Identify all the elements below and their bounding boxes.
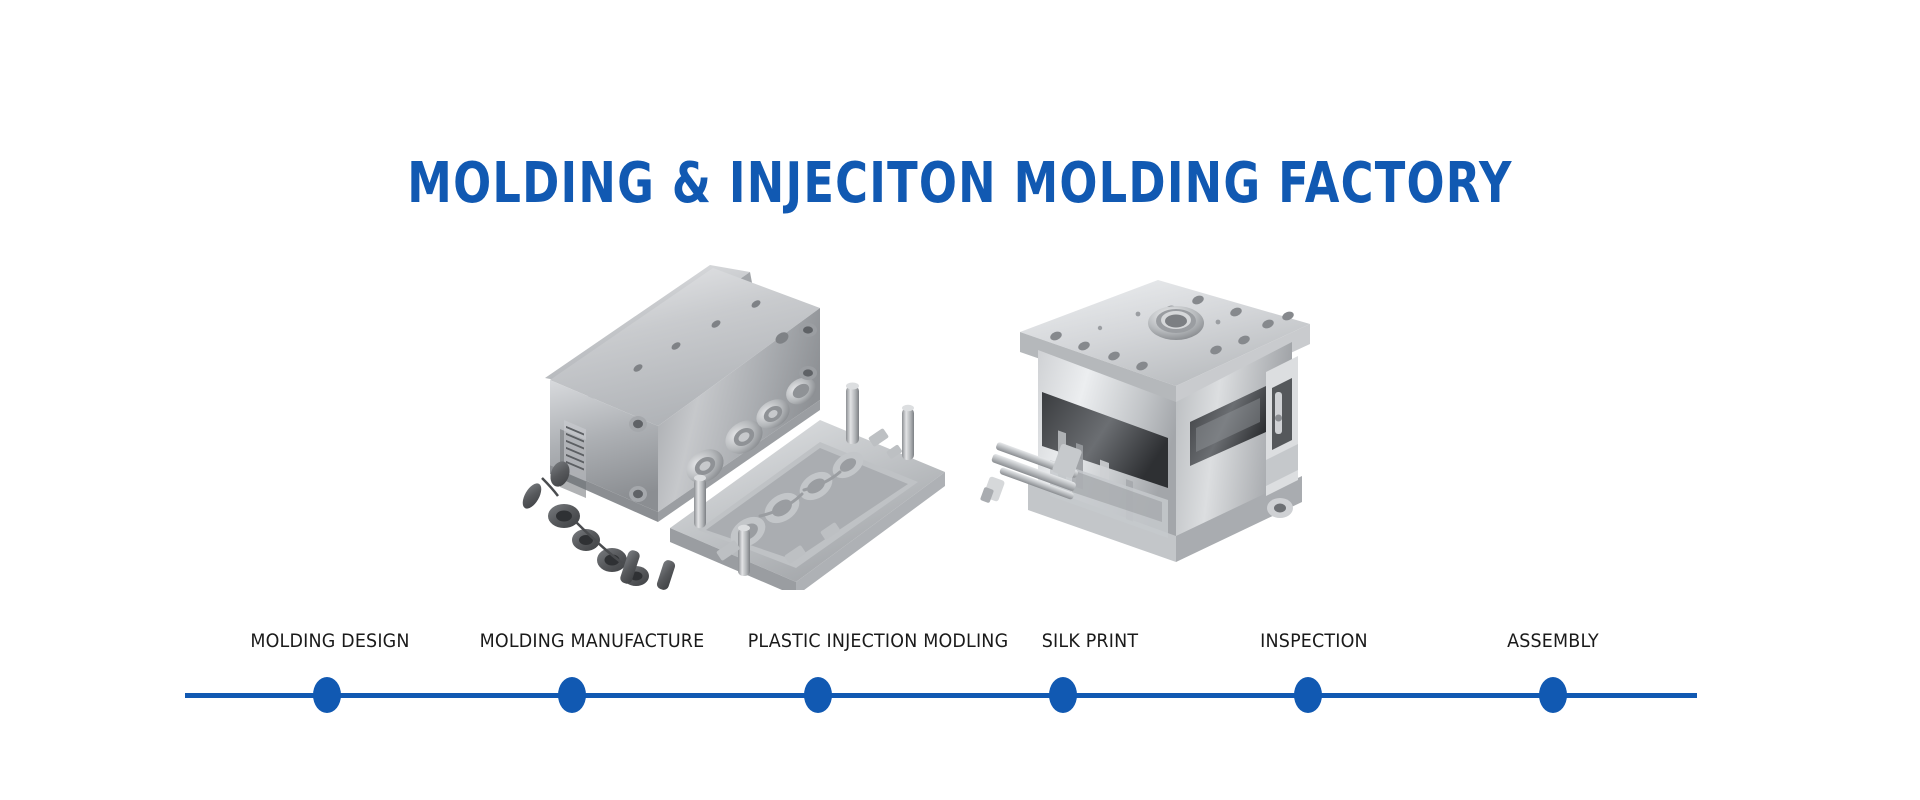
- process-step-label-inspection: INSPECTION: [1256, 630, 1373, 652]
- timeline-dot-molding-manufacture[interactable]: [558, 677, 586, 713]
- injection-mold-open-halves-image: [520, 260, 950, 590]
- process-step-label-plastic-injection-modling: PLASTIC INJECTION MODLING: [736, 630, 1019, 652]
- timeline-axis-line: [185, 693, 1697, 698]
- step-label-text: MOLDING MANUFACTURE: [480, 630, 705, 652]
- marketing-banner: MOLDING & INJECITON MOLDING FACTORY: [0, 0, 1920, 800]
- process-step-labels: MOLDING DESIGN MOLDING MANUFACTURE PLAST…: [0, 600, 1920, 660]
- process-step-label-assembly: ASSEMBLY: [1503, 630, 1603, 652]
- step-label-text: INSPECTION: [1260, 630, 1368, 652]
- process-step-label-molding-manufacture: MOLDING MANUFACTURE: [470, 630, 714, 652]
- step-label-text: SILK PRINT: [1042, 630, 1138, 652]
- page-title: MOLDING & INJECITON MOLDING FACTORY: [192, 155, 1728, 214]
- process-step-label-molding-design: MOLDING DESIGN: [243, 630, 416, 652]
- timeline-dot-assembly[interactable]: [1539, 677, 1567, 713]
- process-step-label-silk-print: SILK PRINT: [1038, 630, 1143, 652]
- timeline-dot-silk-print[interactable]: [1049, 677, 1077, 713]
- timeline-dot-plastic-injection-modling[interactable]: [804, 677, 832, 713]
- step-label-text: PLASTIC INJECTION MODLING: [748, 630, 1009, 652]
- timeline-dot-molding-design[interactable]: [313, 677, 341, 713]
- step-label-text: ASSEMBLY: [1507, 630, 1599, 652]
- step-label-text: MOLDING DESIGN: [250, 630, 409, 652]
- product-image-group: [0, 250, 1920, 590]
- process-timeline: MOLDING DESIGN MOLDING MANUFACTURE PLAST…: [0, 600, 1920, 730]
- timeline-dot-inspection[interactable]: [1294, 677, 1322, 713]
- mold-base-assembly-image: [980, 270, 1350, 580]
